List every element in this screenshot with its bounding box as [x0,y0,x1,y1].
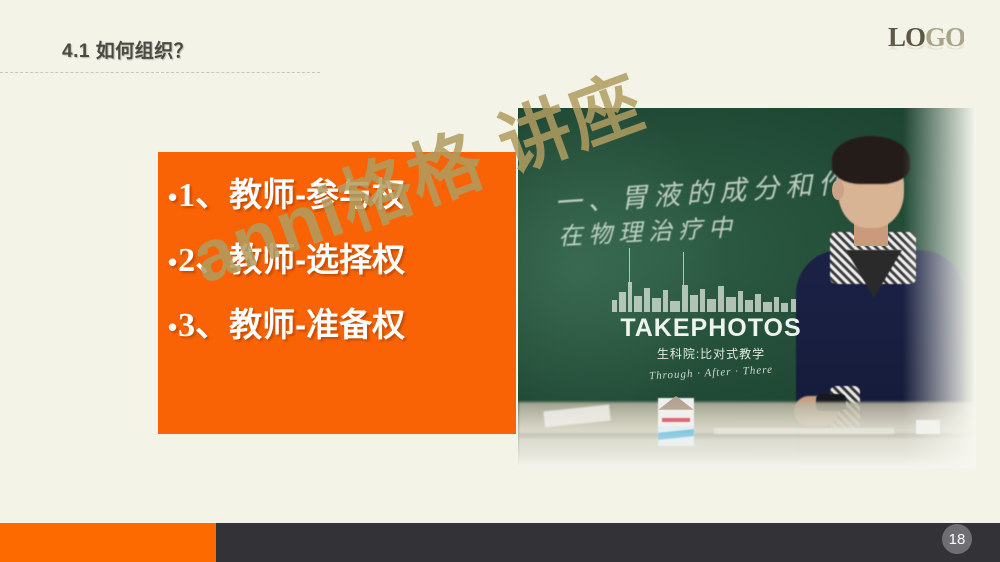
list-item: • 2、 教师-选择权 [168,243,508,278]
bullet-number: 2、 [178,244,229,278]
overlay-subtitle: 生科院:比对式教学 [606,345,816,362]
bullet-label: 教师-准备权 [229,308,405,341]
bullet-number: 3、 [178,309,229,343]
bullet-label: 教师-选择权 [229,243,405,276]
page-number-badge: 18 [942,524,972,554]
bullet-dot-icon: • [168,314,177,340]
desk-object [916,420,940,434]
chalk-tray [714,428,894,434]
lecture-photo: 一、胃液的成分和作用 在物理治疗中 [518,108,976,468]
bullet-label: 教师-参与权 [229,178,405,211]
teacher-ear [832,180,844,200]
footer-bar [216,523,1000,562]
photo-overlay-branding: TAKEPHOTOS 生科院:比对式教学 Through · After · T… [606,278,816,379]
bullet-dot-icon: • [168,184,177,210]
footer-accent-bar [0,523,216,562]
logo-reflection: LOGO [888,37,964,52]
bullet-list: • 1、 教师-参与权 • 2、 教师-选择权 • 3、 教师-准备权 [168,178,508,373]
bullet-number: 1、 [178,179,229,213]
page-title: 4.1 如何组织？ [62,36,193,63]
content-box: • 1、 教师-参与权 • 2、 教师-选择权 • 3、 教师-准备权 [158,152,516,434]
list-item: • 1、 教师-参与权 [168,178,508,213]
slide-canvas: 4.1 如何组织？ LOGO LOGO • 1、 教师-参与权 • 2、 教师-… [0,0,1000,562]
bullet-dot-icon: • [168,249,177,275]
teacher-hair [832,136,910,184]
tissue-box-text [662,418,690,422]
teacher-vneck [846,250,902,298]
list-item: • 3、 教师-准备权 [168,308,508,343]
title-divider [0,72,320,73]
overlay-brand: TAKEPHOTOS [606,314,816,343]
city-skyline-icon [606,278,816,312]
logo: LOGO LOGO [888,24,964,70]
